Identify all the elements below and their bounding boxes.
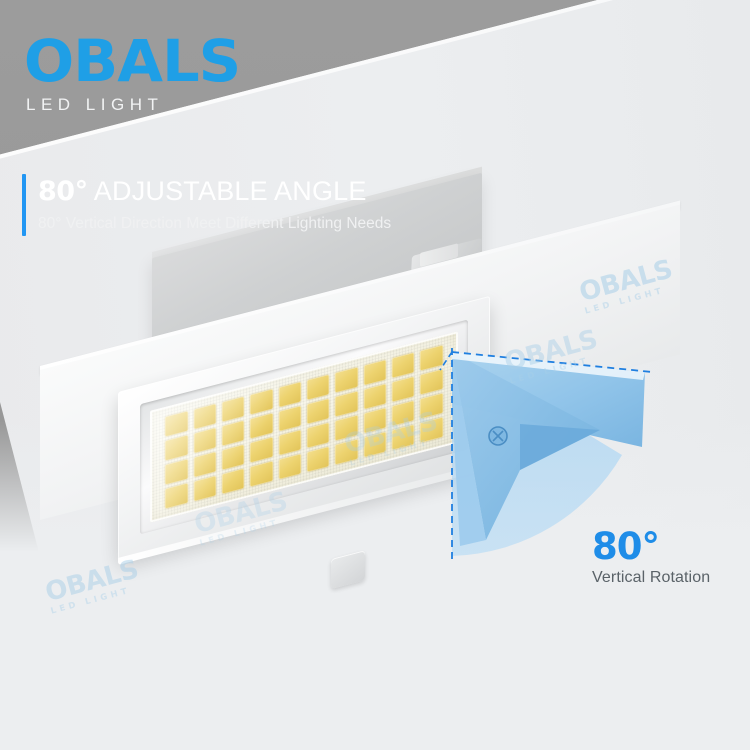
led-chip [364,384,386,410]
led-chip [307,446,329,472]
led-chip [250,413,272,439]
led-chip [392,352,414,378]
led-chip [335,391,357,417]
led-chip [335,439,357,465]
brand-name: OBALS [24,32,240,90]
headline-title: 80° ADJUSTABLE ANGLE [38,174,391,209]
led-chip [279,406,301,432]
product-marketing-banner: OBALS LED LIGHT 80° ADJUSTABLE ANGLE 80°… [0,0,750,750]
led-chip [194,452,216,478]
led-chip [279,430,301,456]
led-chip [420,393,442,419]
led-chip [165,411,187,437]
led-chip [420,369,442,395]
led-chip [392,376,414,402]
led-chip [307,422,329,448]
headline-block: 80° ADJUSTABLE ANGLE 80° Vertical Direct… [22,174,391,236]
led-chip [194,428,216,454]
led-chip [392,424,414,450]
led-chip [222,444,244,470]
led-chip [250,389,272,415]
led-chip [392,400,414,426]
angle-callout-label: Vertical Rotation [592,569,710,587]
led-chip [279,382,301,408]
led-chip [335,367,357,393]
headline-accent-bar [22,174,26,236]
led-chip [194,476,216,502]
brand-tagline: LED LIGHT [26,95,238,115]
led-chip [222,396,244,422]
brand-logo: OBALS LED LIGHT [26,32,238,115]
headline-text-group: 80° ADJUSTABLE ANGLE 80° Vertical Direct… [38,174,391,236]
led-chip [222,420,244,446]
angle-callout: 80° Vertical Rotation [592,528,710,587]
led-chip [307,374,329,400]
led-chip [165,435,187,461]
led-chip [194,404,216,430]
led-chip [279,454,301,480]
headline-subtitle: 80° Vertical Direction Meet Different Li… [38,212,391,236]
led-chip [335,415,357,441]
led-chip [420,345,442,371]
led-chip [364,360,386,386]
angle-callout-value: 80° [592,528,710,566]
led-chip [364,408,386,434]
led-chip [222,468,244,494]
led-chip [364,432,386,458]
led-chip [165,459,187,485]
led-chip [165,483,187,509]
led-chip [250,437,272,463]
headline-title-rest: ADJUSTABLE ANGLE [88,176,367,206]
headline-degree: 80° [38,176,88,207]
led-chip [420,417,442,443]
led-chip [307,398,329,424]
led-chip [250,461,272,487]
